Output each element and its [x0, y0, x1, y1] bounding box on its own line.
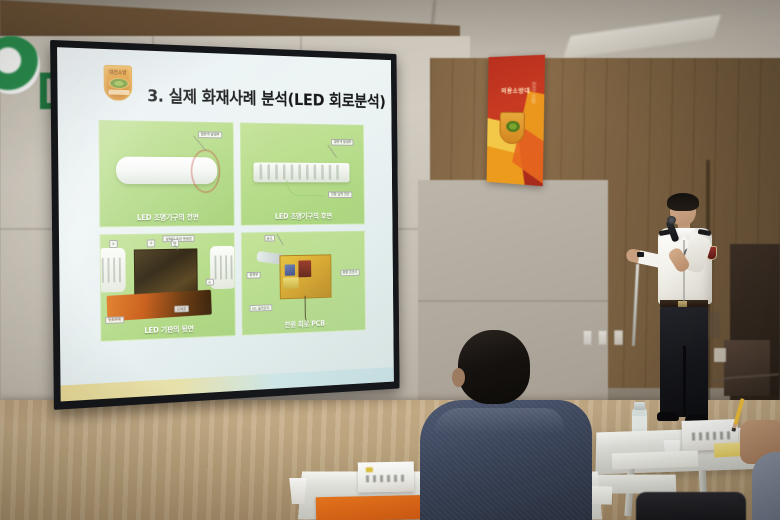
panel-caption: LED 조명기구의 전면	[100, 210, 233, 227]
audience-ear	[452, 368, 465, 387]
annotation-label: 탄화부위	[105, 316, 123, 324]
annotation-leader	[194, 136, 207, 151]
screen-surface: 대전소방 3. 실제 화재사례 분석(LED 회로분석) 열변색 발생부 LED…	[57, 47, 394, 401]
projection-screen: 대전소방 3. 실제 화재사례 분석(LED 회로분석) 열변색 발생부 LED…	[50, 40, 399, 410]
name-card-marker	[366, 467, 373, 472]
annotation-label: 전원 입력 전선	[328, 191, 351, 198]
power-cable	[286, 180, 323, 196]
slide-panel-led-board-back: 발화부 추정 용융흔 ① ② ③ ④ 단락흔 탄화부위 LED 기판의 뒷면	[100, 233, 236, 342]
audience-member-blue-blazer	[416, 330, 596, 520]
annotation-label: 정류부	[247, 271, 261, 278]
pcb-component-blue	[284, 265, 295, 276]
slide-panel-led-front: 열변색 발생부 LED 조명기구의 전면	[98, 120, 234, 228]
annotation-label: ②	[147, 240, 156, 247]
annotation-label: ①	[109, 240, 118, 247]
handout-paper	[612, 451, 699, 470]
slide-image-grid: 열변색 발생부 LED 조명기구의 전면 열변색 발생부 전원 입력 전선 LE…	[98, 120, 365, 342]
slide-panel-power-pcb: 퓨즈 정류부 평활 콘덴서 DC 출력단자 전원 회로 PCB	[240, 231, 365, 336]
annotation-label: 열변색 발생부	[198, 131, 222, 138]
light-switch[interactable]	[614, 330, 623, 345]
banner-side-text: 전국 소방	[529, 82, 536, 104]
annotation-label: DC 출력단자	[250, 304, 272, 312]
slide-emblem-text: 대전소방	[105, 69, 132, 77]
lecture-room-photo: 대 의용소방대 전국 소방 대전소방 3. 실제 화재사례 분석(LED 회로분…	[0, 0, 780, 520]
pcb-capacitor	[283, 277, 298, 288]
led-endcap-left	[100, 248, 126, 293]
panel-caption: LED 조명기구의 후면	[241, 209, 364, 225]
blazer-highlight	[434, 408, 564, 434]
chair-back	[636, 492, 746, 520]
annotation-label: 퓨즈	[264, 235, 275, 242]
trouser-split	[683, 346, 686, 417]
slide-emblem-icon: 대전소방	[104, 65, 133, 101]
presenter-hair	[667, 193, 699, 211]
emblem-wing-icon	[108, 78, 129, 89]
presenter-shoe-left	[657, 412, 679, 421]
audience-head	[458, 330, 530, 404]
microphone-head-icon	[667, 216, 676, 224]
wall-banner-right: 의용소방대 전국 소방	[487, 55, 545, 187]
annotation-label: 단락흔	[174, 305, 189, 313]
audience-member-writing	[752, 452, 780, 520]
annotation-leader	[328, 145, 337, 158]
annotation-label: 열변색 발생부	[331, 139, 353, 146]
power-circuit-pcb	[279, 254, 331, 299]
led-tube-rear	[253, 162, 349, 182]
panel-caption: 전원 회로 PCB	[242, 315, 365, 335]
emblem-band	[109, 90, 130, 95]
annotation-label: 평활 콘덴서	[340, 269, 360, 276]
slide-panel-led-rear: 열변색 발생부 전원 입력 전선 LED 조명기구의 후면	[239, 123, 364, 226]
wristwatch	[637, 252, 644, 257]
annotation-leader	[277, 234, 284, 246]
name-tent-card	[358, 462, 415, 493]
slide-title: 3. 실제 화재사례 분석(LED 회로분석)	[147, 82, 386, 112]
annotation-circle	[191, 149, 220, 192]
presentation-slide: 대전소방 3. 실제 화재사례 분석(LED 회로분석) 열변색 발생부 LED…	[57, 47, 394, 401]
led-endcap-right	[210, 246, 235, 289]
pcb-component-burnt	[298, 260, 311, 277]
light-switch[interactable]	[598, 330, 607, 345]
annotation-label: ④	[205, 279, 213, 286]
banner-emblem-icon	[499, 112, 525, 145]
presenter	[640, 196, 728, 428]
banner-title: 의용소방대	[501, 86, 530, 95]
bottle-cap	[634, 402, 645, 410]
tile-seam	[418, 300, 608, 302]
